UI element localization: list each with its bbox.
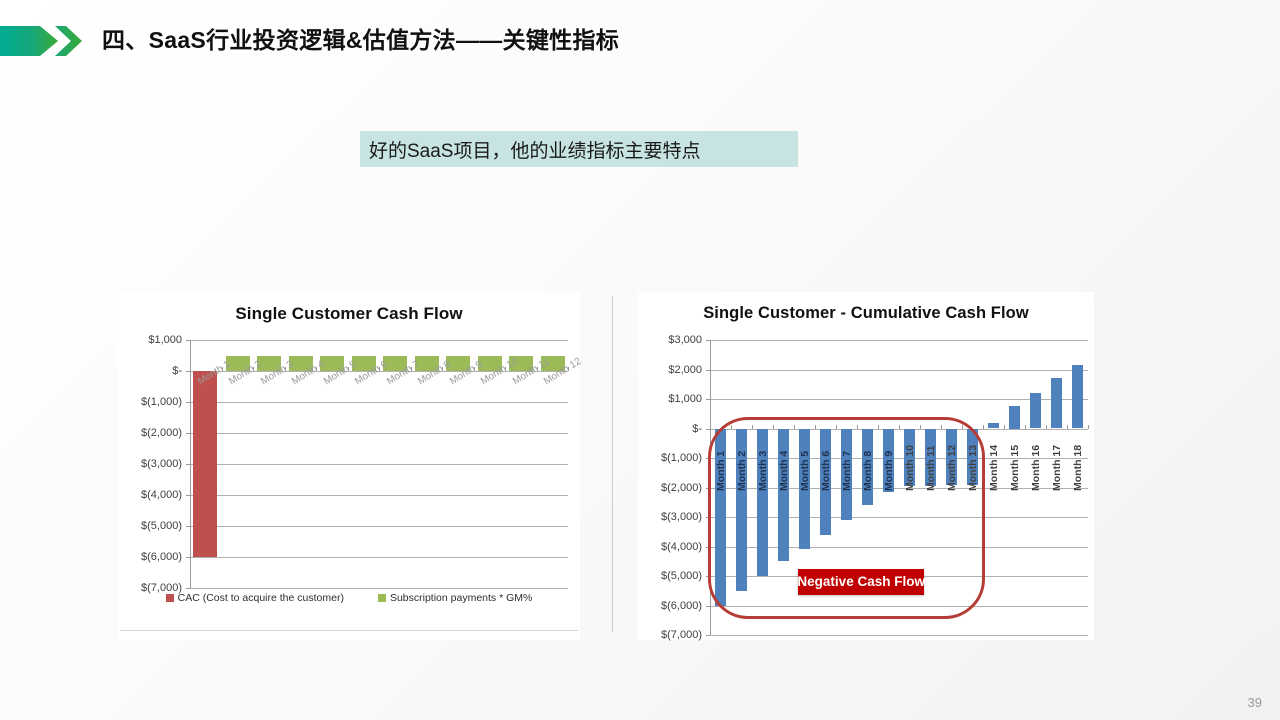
y-axis-line — [710, 340, 711, 635]
x-axis-tick — [1088, 425, 1089, 429]
legend-label-cac: CAC (Cost to acquire the customer) — [178, 592, 344, 604]
chart-bar — [988, 423, 999, 429]
y-axis-label: $(5,000) — [661, 570, 702, 582]
x-axis-label: Month 1 — [715, 450, 727, 490]
y-axis-label: $(3,000) — [661, 511, 702, 523]
legend-swatch-cac — [166, 594, 174, 602]
y-axis-label: $(4,000) — [661, 541, 702, 553]
gridline — [710, 606, 1088, 607]
x-axis-label: Month 18 — [1072, 444, 1084, 490]
x-axis-tick — [899, 425, 900, 429]
x-axis-tick — [731, 425, 732, 429]
legend-label-subscription: Subscription payments * GM% — [390, 592, 532, 604]
gridline — [710, 635, 1088, 636]
x-axis-tick — [836, 425, 837, 429]
x-axis-tick — [920, 425, 921, 429]
y-axis-label: $(1,000) — [661, 452, 702, 464]
x-axis-tick — [710, 425, 711, 429]
chart-bar — [1030, 393, 1041, 428]
gridline — [190, 526, 568, 527]
x-axis-label: Month 7 — [841, 450, 853, 490]
x-axis-label: Month 12 — [946, 444, 958, 490]
y-axis-tick — [186, 588, 190, 589]
gridline — [190, 495, 568, 496]
y-axis-label: $(2,000) — [661, 482, 702, 494]
negative-cash-flow-label: Negative Cash Flow — [798, 569, 924, 595]
x-axis-label: Month 14 — [988, 444, 1000, 490]
gridline — [710, 370, 1088, 371]
x-axis-tick — [752, 425, 753, 429]
x-axis-label: Month 11 — [925, 445, 937, 491]
gridline — [710, 340, 1088, 341]
x-axis-tick — [962, 425, 963, 429]
chart-left-bottom-rule — [120, 630, 578, 631]
chart-single-customer-cumulative-cash-flow: Single Customer - Cumulative Cash Flow $… — [638, 292, 1094, 640]
x-axis-label: Month 4 — [778, 450, 790, 490]
y-axis-line — [190, 340, 191, 588]
gridline — [190, 402, 568, 403]
x-axis-label: Month 15 — [1009, 444, 1021, 490]
header-arrow-icon — [0, 22, 86, 60]
x-axis-tick — [1004, 425, 1005, 429]
page-number: 39 — [1248, 695, 1262, 710]
y-axis-label: $(6,000) — [141, 551, 182, 563]
y-axis-label: $- — [692, 423, 702, 435]
y-axis-label: $(4,000) — [141, 489, 182, 501]
gridline — [190, 464, 568, 465]
x-axis-label: Month 8 — [862, 450, 874, 490]
x-axis-tick — [1067, 425, 1068, 429]
y-axis-label: $1,000 — [668, 393, 702, 405]
y-axis-label: $(2,000) — [141, 427, 182, 439]
x-axis-tick — [941, 425, 942, 429]
x-axis-tick — [773, 425, 774, 429]
gridline — [190, 433, 568, 434]
y-axis-label: $1,000 — [148, 334, 182, 346]
legend-swatch-subscription — [378, 594, 386, 602]
gridline — [190, 340, 568, 341]
y-axis-label: $(7,000) — [661, 629, 702, 641]
x-axis-tick — [815, 425, 816, 429]
x-axis-label: Month 17 — [1051, 444, 1063, 490]
x-axis-tick — [190, 367, 191, 371]
x-axis-tick — [983, 425, 984, 429]
x-axis-label: Month 3 — [757, 450, 769, 490]
chart-divider — [612, 296, 613, 632]
legend-item-cac: CAC (Cost to acquire the customer) — [166, 592, 344, 604]
y-axis-tick — [706, 635, 710, 636]
x-axis-label: Month 16 — [1030, 444, 1042, 490]
x-axis-label: Month 6 — [820, 450, 832, 490]
legend-item-subscription: Subscription payments * GM% — [378, 592, 532, 604]
chart-bar — [1009, 406, 1020, 428]
x-axis-tick — [794, 425, 795, 429]
x-axis-label: Month 2 — [736, 450, 748, 490]
chart-bar — [1051, 378, 1062, 428]
chart-bar — [1072, 365, 1083, 428]
y-axis-label: $(5,000) — [141, 520, 182, 532]
x-axis-tick — [1046, 425, 1047, 429]
subtitle-text: 好的SaaS项目，他的业绩指标主要特点 — [360, 136, 700, 163]
x-axis-label: Month 5 — [799, 450, 811, 490]
slide-header: 四、SaaS行业投资逻辑&估值方法——关键性指标 — [0, 18, 1280, 64]
y-axis-label: $(6,000) — [661, 600, 702, 612]
chart-left-legend: CAC (Cost to acquire the customer) Subsc… — [118, 592, 580, 604]
chart-bar — [193, 371, 217, 557]
page-title: 四、SaaS行业投资逻辑&估值方法——关键性指标 — [102, 18, 619, 62]
y-axis-label: $(1,000) — [141, 396, 182, 408]
chart-single-customer-cash-flow: Single Customer Cash Flow $1,000$-$(1,00… — [118, 292, 580, 640]
y-axis-label: $2,000 — [668, 364, 702, 376]
gridline — [190, 557, 568, 558]
y-axis-label: $- — [172, 365, 182, 377]
y-axis-label: $(3,000) — [141, 458, 182, 470]
x-axis-tick — [857, 425, 858, 429]
chart-left-plot-area: $1,000$-$(1,000)$(2,000)$(3,000)$(4,000)… — [118, 292, 580, 640]
x-axis-tick — [878, 425, 879, 429]
chart-bar — [778, 429, 789, 562]
x-axis-label: Month 13 — [967, 444, 979, 490]
gridline — [190, 588, 568, 589]
x-axis-tick — [1025, 425, 1026, 429]
x-axis-label: Month 10 — [904, 444, 916, 490]
y-axis-label: $3,000 — [668, 334, 702, 346]
x-axis-label: Month 9 — [883, 450, 895, 490]
subtitle-banner: 好的SaaS项目，他的业绩指标主要特点 — [360, 131, 798, 167]
